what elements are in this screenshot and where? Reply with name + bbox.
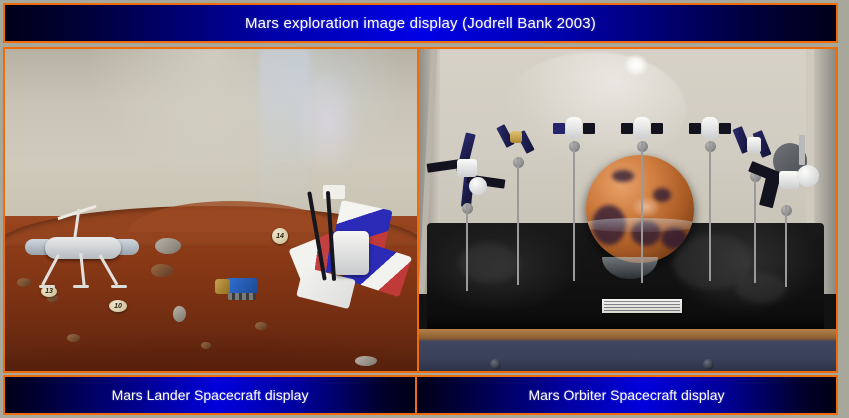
cabinet-knob[interactable] xyxy=(490,359,501,370)
lander-leg xyxy=(41,254,60,285)
rover-model xyxy=(215,276,257,304)
orbiter-mast xyxy=(799,135,805,165)
mount-post xyxy=(709,141,711,281)
lander-foot xyxy=(39,285,55,288)
orbiter-body xyxy=(702,117,718,139)
lander-foot xyxy=(73,285,89,288)
orbiter-model xyxy=(689,117,731,141)
caption-bar-right: Mars Orbiter Spacecraft display xyxy=(417,375,838,415)
orbiter-solar-panel xyxy=(651,123,663,134)
cloth-fold xyxy=(459,243,519,283)
mount-post xyxy=(573,141,575,281)
rock xyxy=(155,238,181,254)
mount-post xyxy=(517,157,519,285)
orbiter-model xyxy=(501,123,535,157)
panel-mars-orbiter-photo[interactable] xyxy=(419,49,836,371)
mount-post xyxy=(641,141,643,283)
orbiter-dish xyxy=(469,177,487,195)
image-panels-row: 13 10 14 xyxy=(3,47,838,373)
orbiter-solar-panel xyxy=(719,123,731,134)
globe-equator-ring xyxy=(586,218,694,232)
orbiter-body xyxy=(634,117,650,139)
orbiter-solar-panel xyxy=(621,123,633,134)
mars-orbiter-case-image xyxy=(419,49,836,371)
orbiter-body xyxy=(457,159,477,177)
image-display-page: Mars exploration image display (Jodrell … xyxy=(0,0,849,418)
orbiter-body xyxy=(566,117,582,139)
orbiter-model xyxy=(749,143,823,205)
globe-highlight xyxy=(631,196,661,218)
spacecraft-model-large xyxy=(285,189,415,324)
globe-dark-region xyxy=(612,170,634,182)
orbiter-solar-panel xyxy=(583,123,595,134)
page-title-bar: Mars exploration image display (Jodrell … xyxy=(3,3,838,43)
orbiter-model xyxy=(433,133,501,203)
exhibit-marker: 10 xyxy=(109,300,127,312)
orbiter-body xyxy=(779,171,799,189)
spacecraft-body xyxy=(333,231,369,275)
rover-instrument-box xyxy=(215,279,230,294)
orbiter-solar-panel xyxy=(553,123,565,134)
rock xyxy=(173,306,186,322)
mars-globe xyxy=(586,155,694,263)
wooden-cabinet xyxy=(419,329,836,371)
rock xyxy=(355,356,377,366)
caption-bar-left: Mars Lander Spacecraft display xyxy=(3,375,417,415)
rock xyxy=(67,334,80,342)
page-title: Mars exploration image display (Jodrell … xyxy=(245,15,596,32)
orbiter-body xyxy=(510,131,522,143)
lander-model xyxy=(27,209,137,299)
rover-solar-deck xyxy=(227,278,257,294)
mount-post xyxy=(466,203,468,291)
cloth-fold xyxy=(736,273,786,303)
rock xyxy=(201,342,211,349)
caption-left-text: Mars Lander Spacecraft display xyxy=(112,387,309,403)
panel-mars-lander-photo[interactable]: 13 10 14 xyxy=(5,49,417,371)
orbiter-solar-panel xyxy=(689,123,701,134)
mars-lander-diorama-image: 13 10 14 xyxy=(5,49,417,371)
lander-foot xyxy=(111,285,127,288)
rock xyxy=(255,322,267,330)
cabinet-knob[interactable] xyxy=(703,359,714,370)
mount-post xyxy=(785,205,787,287)
orbiter-model xyxy=(553,117,595,141)
label-text-lines xyxy=(604,301,680,311)
rover-wheels xyxy=(228,293,256,300)
caption-row: Mars Lander Spacecraft display Mars Orbi… xyxy=(3,375,838,415)
exhibit-label-card xyxy=(602,299,682,313)
orbiter-model xyxy=(621,117,663,141)
caption-right-text: Mars Orbiter Spacecraft display xyxy=(528,387,724,403)
lander-leg xyxy=(99,255,119,286)
rock xyxy=(151,264,173,277)
orbiter-dish xyxy=(797,165,819,187)
